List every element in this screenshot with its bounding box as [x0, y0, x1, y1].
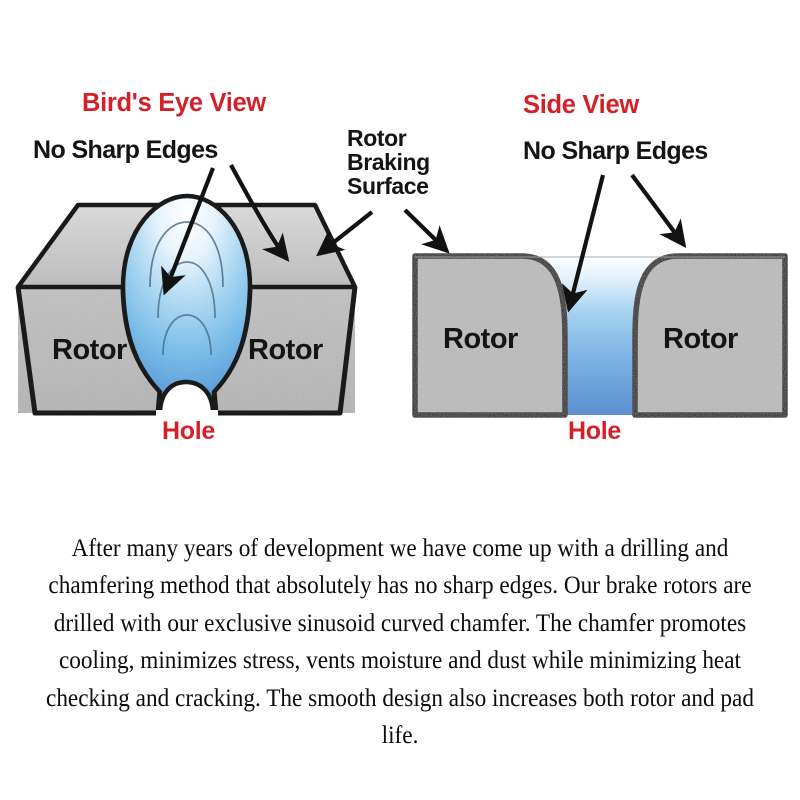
- birds-eye-view-title: Bird's Eye View: [82, 90, 266, 116]
- arrow-rotor-braking-surface-right: [405, 210, 447, 251]
- side-view-diagram: [405, 175, 785, 415]
- caption-paragraph: After many years of development we have …: [41, 530, 758, 754]
- arrow-side-no-sharp-edges-right: [632, 175, 684, 245]
- rotor-braking-surface-label: Rotor Braking Surface: [347, 127, 430, 199]
- side-view-rotor-label-left: Rotor: [443, 323, 518, 356]
- rotor-braking-surface-line-2: Braking: [347, 151, 430, 175]
- side-view-rotor-label-right: Rotor: [663, 323, 738, 356]
- birds-eye-rotor-label-right: Rotor: [248, 334, 323, 367]
- side-view-title: Side View: [523, 92, 639, 118]
- birds-eye-hole-label: Hole: [162, 419, 215, 445]
- rotor-braking-surface-line-1: Rotor: [347, 127, 430, 151]
- birds-eye-no-sharp-edges-label: No Sharp Edges: [33, 138, 218, 164]
- figure-canvas: Bird's Eye View No Sharp Edges Rotor Bra…: [0, 0, 800, 800]
- rotor-braking-surface-line-3: Surface: [347, 175, 430, 199]
- birds-eye-rotor-label-left: Rotor: [52, 334, 127, 367]
- side-view-no-sharp-edges-label: No Sharp Edges: [523, 139, 708, 165]
- birds-eye-view-diagram: [18, 165, 372, 418]
- side-view-hole-label: Hole: [568, 419, 621, 445]
